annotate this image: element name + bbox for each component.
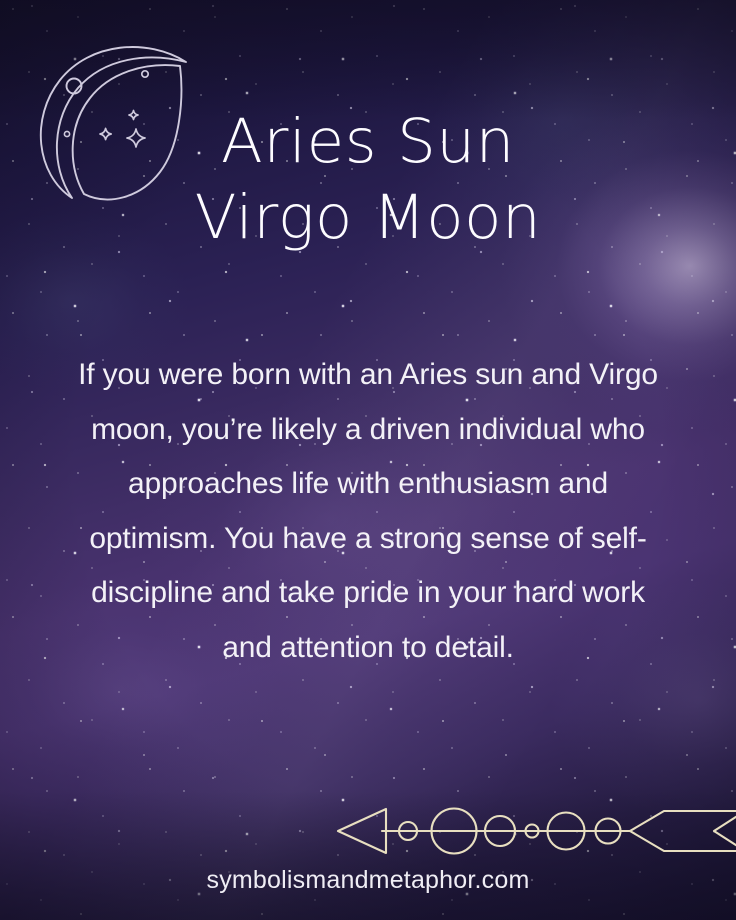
- title-line-2: Virgo Moon: [0, 180, 736, 256]
- page-title: Aries Sun Virgo Moon: [0, 104, 736, 256]
- poster-content: Aries Sun Virgo Moon If you were born wi…: [0, 0, 736, 920]
- footer: symbolismandmetaphor.com: [0, 866, 736, 895]
- arrow-orbit-divider-icon: [330, 800, 736, 862]
- title-line-1: Aries Sun: [0, 104, 736, 180]
- divider-chevron-inner: [714, 813, 736, 849]
- description-line: discipline and take pride in your hard w…: [44, 566, 692, 621]
- description-line: optimism. You have a strong sense of sel…: [44, 512, 692, 567]
- moon-crater-small: [142, 71, 148, 77]
- description-block: If you were born with an Aries sun and V…: [44, 348, 692, 675]
- description-line: moon, you’re likely a driven individual …: [44, 403, 692, 458]
- site-url[interactable]: symbolismandmetaphor.com: [207, 866, 530, 894]
- description-line: If you were born with an Aries sun and V…: [44, 348, 692, 403]
- astrology-poster: Aries Sun Virgo Moon If you were born wi…: [0, 0, 736, 920]
- divider-arrowhead-left: [338, 809, 386, 853]
- description-line: and attention to detail.: [44, 621, 692, 676]
- description-line: approaches life with enthusiasm and: [44, 457, 692, 512]
